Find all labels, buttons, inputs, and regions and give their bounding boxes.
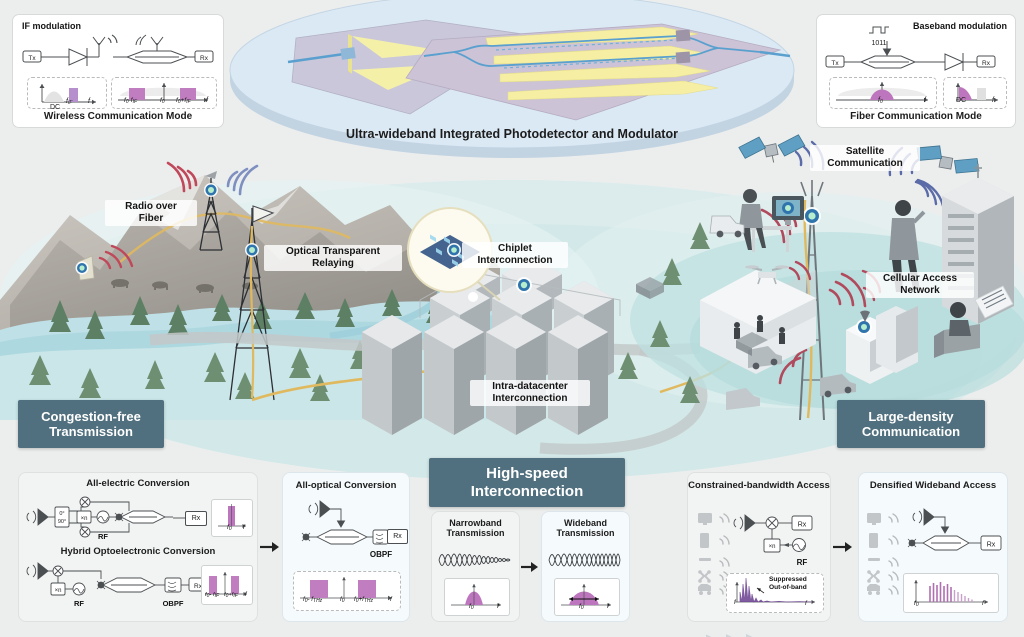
svg-text:0°: 0° [59,511,64,517]
radio-over-fiber-label: Radio over Fiber [105,200,197,226]
rack [424,315,484,435]
spectrum-dc-label: DC [956,97,966,104]
spectrum-all-electric-axis: f [243,524,245,531]
wireless-schematic: Tx Rx [13,33,223,73]
spectrum-all-electric-center: f0 [227,524,232,532]
arrow-to-wideband [521,560,539,574]
spectrum-all-optical-center: f0 [340,596,345,604]
card-electric-conversions: All-electric Conversion [18,472,258,622]
spectrum-if-baseband: DC fIF f [27,77,107,109]
cellular-access-network-label: Cellular Access Network [866,272,974,298]
svg-text:90°: 90° [58,519,66,525]
narrowband-transmission-title: Narrowband Transmission [432,518,519,539]
wireless-mode-label: Wireless Communication Mode [13,111,223,123]
spectrum-hybrid-upper: f0+fIF [224,592,238,599]
spectrum-baseband-optical: f0 f [829,77,937,109]
rx-label: Rx [798,522,807,529]
spectrum-densified-center: f0 [914,600,919,608]
rx-label: Rx [987,542,996,549]
rx-label: Rx [200,55,209,62]
card-constrained-bandwidth-access: Constrained-bandwidth Access [687,472,831,622]
spectrum-hybrid-lower: f0- fIF [205,592,219,599]
hybrid-optoelectronic-conversion-title: Hybrid Optoelectronic Conversion [19,547,257,558]
spectrum-constrained-axis: f [805,600,807,607]
card-densified-wideband-access: Densified Wideband Access [858,472,1008,622]
svg-text:×n: ×n [769,544,776,550]
tx-label: Tx [831,60,839,67]
spectrum-if-rf: f0-fIF f0 f0+fIF f [111,77,217,109]
spectrum-all-optical-upper: f0+fTHz [354,596,373,604]
spectrum-densified-wideband: f0 f [903,573,999,613]
spectrum-all-optical-lower: f0- fTHz [303,596,322,604]
spectrum-baseband-center-label: f0 [878,97,883,105]
bitstream-label: 1011 [871,40,886,47]
spectrum-narrowband-axis: f [497,603,499,610]
spectrum-densified-axis: f [982,600,984,607]
spectrum-wideband-axis: f [607,603,609,610]
rx-label: Rx [982,60,991,67]
spectrum-rf-axis-label: f [206,97,208,104]
tx-label: Tx [28,55,36,62]
all-electric-conversion-title: All-electric Conversion [19,479,257,490]
spectrum-constrained-bandwidth: Suppressed Out-of-band f f [726,573,824,613]
wideband-waveform [547,546,625,574]
spectrum-baseband-axis-label: f [924,97,926,104]
spectrum-wideband-center: f0 [579,603,584,611]
spectrum-hybrid: f0- fIF f0+fIF f [201,565,253,605]
rack [362,315,422,435]
card-all-optical-conversion: All-optical Conversion OBPF Rx [282,472,410,622]
svg-text:×n: ×n [81,516,88,522]
spectrum-all-electric: f0 f [211,499,253,537]
spectrum-if-axis-label: f [88,98,90,105]
center-caption: Ultra-wideband Integrated Photodetector … [262,127,762,141]
panel-fiber-communication-mode: Baseband modulation 1011 Tx Rx [816,14,1016,128]
wideband-transmission-title: Wideband Transmission [542,518,629,539]
spectrum-all-optical: f0- fTHz f0 f0+fTHz f [293,571,401,611]
device-icon-column [865,511,903,597]
obpf-label: OBPF [370,550,392,559]
rf-label: RF [98,532,108,541]
spectrum-narrowband-center: f0 [469,603,474,611]
spectrum-rf-tick-lower: f0-fIF [124,97,137,105]
fiber-schematic: 1011 Tx Rx [817,23,1015,75]
rf-label: RF [74,599,84,608]
all-optical-conversion-title: All-optical Conversion [283,481,409,492]
narrowband-waveform [437,546,515,574]
card-wideband-transmission: Wideband Transmission f0 f [541,511,630,622]
panel-wireless-communication-mode: IF modulation [12,14,224,128]
spectrum-if-peak-label: fIF [66,98,72,106]
card-narrowband-transmission: Narrowband Transmission f0 f [431,511,520,622]
rx-box-all-optical: Rx [387,529,408,544]
spectrum-narrowband: f0 f [444,578,510,616]
all-electric-schematic: 0° 90° ×n RF [25,493,185,543]
arrow-to-all-optical [260,540,280,554]
spectrum-wideband: f0 f [554,578,620,616]
hybrid-optoelectronic-schematic: ×n RF OBPF Rx [25,561,211,613]
spectrum-hybrid-axis: f [245,592,247,598]
spectrum-baseband-electrical: DC f [943,77,1007,109]
suppressed-out-of-band-annotation: Suppressed Out-of-band [769,576,807,592]
spectrum-dc-axis-label: f [992,97,994,104]
rack [486,315,546,435]
svg-text:DC: DC [50,104,60,111]
spectrum-constrained-origin: f [734,600,736,606]
rf-label: RF [797,558,808,567]
densified-wideband-schematic: Rx [901,505,1005,567]
intra-datacenter-interconnection-label: Intra-datacenter Interconnection [470,380,590,406]
figure-root: IF modulation [0,0,1024,637]
chiplet-interconnection-label: Chiplet Interconnection [462,242,568,268]
satellite-communication-label: Satellite Communication [810,145,920,171]
constrained-bandwidth-access-title: Constrained-bandwidth Access [688,481,830,492]
banner-high-speed-interconnection: High-speed Interconnection [429,458,625,507]
fiber-mode-label: Fiber Communication Mode [817,111,1015,123]
if-modulation-title: IF modulation [22,21,81,31]
densified-wideband-access-title: Densified Wideband Access [859,481,1007,492]
arrow-to-densified [833,540,853,554]
banner-congestion-free-transmission: Congestion-free Transmission [18,400,164,448]
svg-text:×n: ×n [55,588,62,594]
rx-box-all-electric: Rx [185,511,207,526]
banner-large-density-communication: Large-density Communication [837,400,985,448]
spectrum-rf-tick-upper: f0+fIF [176,97,191,105]
spectrum-all-optical-axis: f [390,596,392,603]
obpf-label: OBPF [163,599,184,608]
optical-transparent-relaying-label: Optical Transparent Relaying [264,245,402,271]
constrained-bandwidth-schematic: ×n RF Rx [732,509,828,571]
spectrum-rf-tick-center: f0 [160,97,165,105]
